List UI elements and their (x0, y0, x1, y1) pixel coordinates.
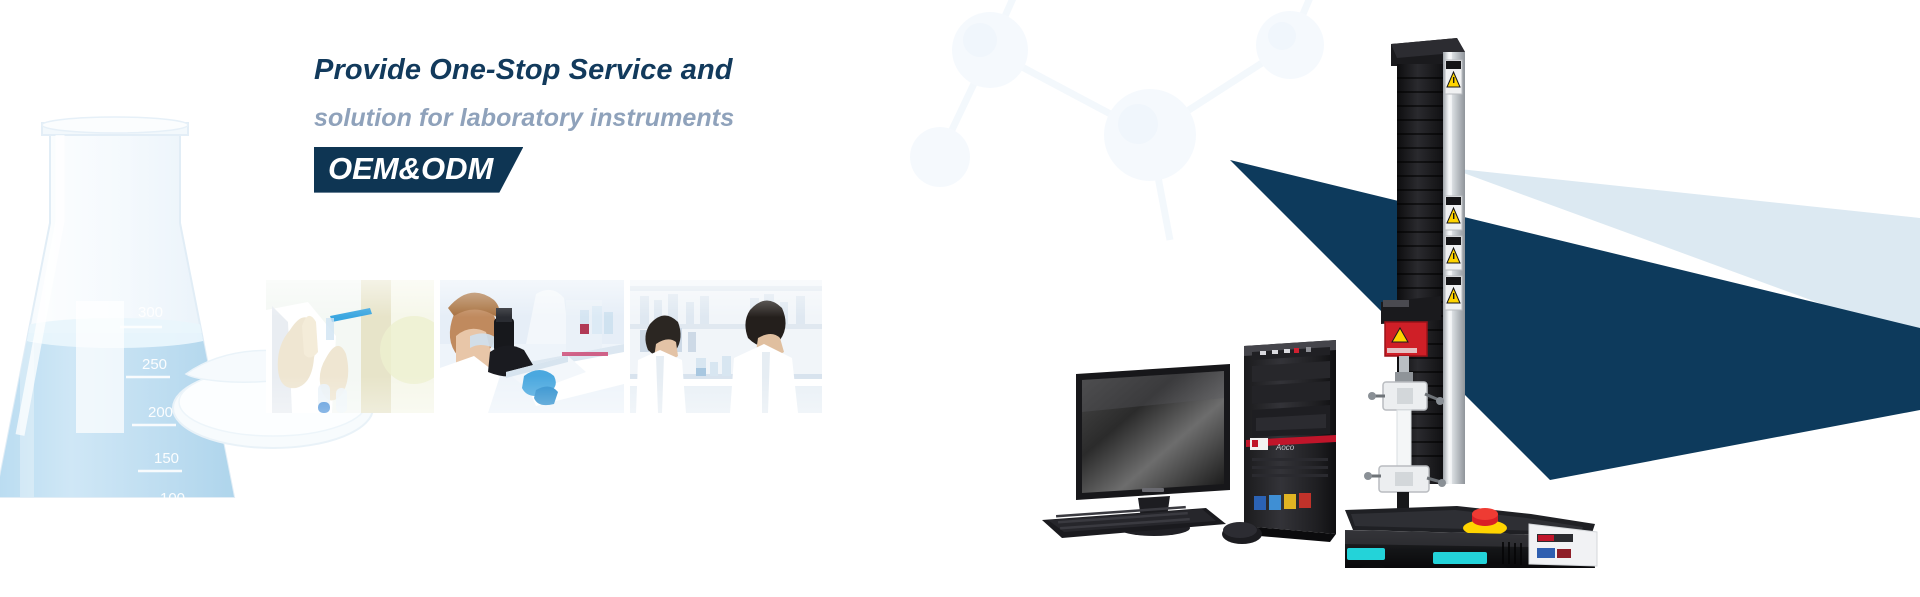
list-item (440, 280, 624, 413)
list-item (630, 280, 822, 413)
svg-text:100: 100 (160, 490, 185, 505)
warning-label (1445, 276, 1462, 310)
svg-text:300: 300 (138, 304, 163, 321)
pc-tower: Aoco (1244, 340, 1336, 542)
warning-label (1445, 196, 1462, 230)
photo-strip (266, 280, 822, 413)
warning-label (1445, 60, 1462, 94)
headline-line-2: solution for laboratory instruments (314, 106, 954, 131)
promo-banner: 300 250 200 150 100 Provide One-Stop Ser… (0, 0, 1920, 597)
accent-glow (1347, 548, 1385, 560)
load-cell (1385, 322, 1427, 356)
desktop-computer-workstation: Aoco (1030, 338, 1370, 548)
universal-tensile-testing-machine (1345, 8, 1605, 568)
control-box (1529, 524, 1597, 566)
headline-block: Provide One-Stop Service and solution fo… (314, 56, 954, 193)
oem-odm-badge: OEM&ODM (314, 147, 523, 193)
headline-line-1: Provide One-Stop Service and (314, 56, 954, 85)
warning-label (1445, 236, 1462, 270)
list-item (266, 280, 434, 413)
shot-pipetting (266, 280, 434, 413)
shot-lab-team (630, 280, 822, 413)
accent-glow (1433, 552, 1487, 564)
svg-text:250: 250 (142, 356, 167, 373)
shot-microscope (440, 280, 624, 413)
molecular-structure-watermark (880, 0, 1400, 260)
svg-text:Aoco: Aoco (1275, 443, 1295, 452)
